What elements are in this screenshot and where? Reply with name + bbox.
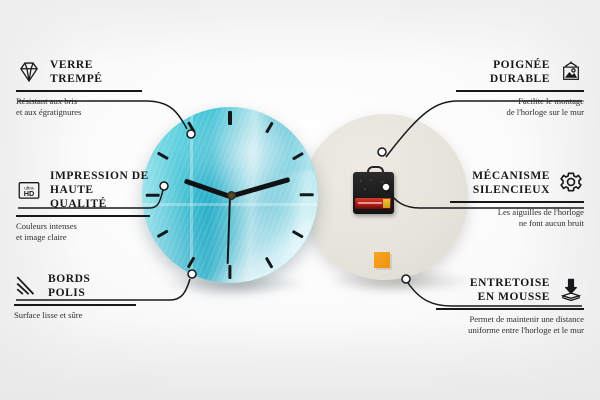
callout-header: VERRE TREMPÉ: [16, 58, 142, 86]
title-line-2: DURABLE: [490, 73, 550, 85]
callout-title: POIGNÉE DURABLE: [490, 58, 550, 86]
title-line-1: VERRE: [50, 59, 93, 71]
title-line-1: ENTRETOISE: [470, 277, 550, 289]
hand-center-cap: [227, 191, 236, 200]
clock-front-face: [142, 107, 318, 283]
hour-marker: [228, 265, 231, 279]
sub-line-1: Couleurs intenses: [16, 221, 77, 231]
callout-rule: [16, 90, 142, 92]
callout-title: BORDS POLIS: [48, 272, 90, 300]
ultra-hd-icon: ultra HD: [16, 177, 42, 203]
title-line-1: BORDS: [48, 273, 90, 285]
callout-title: ENTRETOISE EN MOUSSE: [470, 276, 550, 304]
callout-subtitle: Surface lisse et sûre: [14, 310, 136, 322]
title-line-2: EN MOUSSE: [478, 291, 550, 303]
callout-title: VERRE TREMPÉ: [50, 58, 103, 86]
gear-icon: [558, 170, 584, 196]
infographic-canvas: VERRE TREMPÉ Résistant aux bris et aux é…: [0, 0, 600, 400]
foam-spacer: [374, 252, 390, 268]
sub-line-2: ne font aucun bruit: [519, 218, 584, 228]
callout-entretoise-en-mousse: ENTRETOISE EN MOUSSE Permet de maintenir…: [436, 276, 584, 337]
callout-header: BORDS POLIS: [14, 272, 136, 300]
hour-marker: [228, 111, 231, 125]
callout-subtitle: Facilite le montage de l'horloge sur le …: [456, 96, 584, 119]
polished-edge-icon: [14, 273, 40, 299]
callout-rule: [14, 304, 136, 306]
sub-line-2: et image claire: [16, 232, 67, 242]
title-line-2: SILENCIEUX: [473, 184, 550, 196]
callout-subtitle: Permet de maintenir une distance uniform…: [436, 314, 584, 337]
sub-line-2: de l'horloge sur le mur: [507, 107, 584, 117]
title-line-2: HAUTE QUALITÉ: [50, 184, 107, 210]
diamond-icon: [16, 59, 42, 85]
sub-line-1: Surface lisse et sûre: [14, 310, 83, 320]
sub-line-1: Les aiguilles de l'horloge: [498, 207, 584, 217]
callout-subtitle: Les aiguilles de l'horloge ne font aucun…: [450, 207, 584, 230]
sub-line-2: et aux égratignures: [16, 107, 81, 117]
title-line-1: IMPRESSION DE: [50, 170, 149, 182]
callout-header: POIGNÉE DURABLE: [456, 58, 584, 86]
sub-line-1: Résistant aux bris: [16, 96, 77, 106]
callout-verre-trempe: VERRE TREMPÉ Résistant aux bris et aux é…: [16, 58, 142, 119]
callout-bords-polis: BORDS POLIS Surface lisse et sûre: [14, 272, 136, 321]
callout-subtitle: Résistant aux bris et aux égratignures: [16, 96, 142, 119]
callout-rule: [16, 215, 150, 217]
callout-rule: [436, 308, 584, 310]
title-line-2: POLIS: [48, 287, 85, 299]
callout-poignee-durable: POIGNÉE DURABLE Facilite le montage de l…: [456, 58, 584, 119]
callout-rule: [450, 201, 584, 203]
battery-stripe: [358, 202, 382, 204]
callout-header: ultra HD IMPRESSION DE HAUTE QUALITÉ: [16, 169, 150, 211]
callout-title: IMPRESSION DE HAUTE QUALITÉ: [50, 169, 150, 211]
callout-rule: [456, 90, 584, 92]
arrow-down-stack-icon: [558, 277, 584, 303]
framed-picture-hook-icon: [558, 59, 584, 85]
hour-marker: [300, 193, 314, 196]
title-line-1: POIGNÉE: [493, 59, 550, 71]
title-line-2: TREMPÉ: [50, 73, 103, 85]
sub-line-1: Permet de maintenir une distance: [469, 314, 584, 324]
sub-line-1: Facilite le montage: [518, 96, 584, 106]
callout-title: MÉCANISME SILENCIEUX: [472, 169, 550, 197]
sub-line-2: uniforme entre l'horloge et le mur: [468, 325, 584, 335]
mechanism-detail: [357, 177, 390, 193]
callout-impression-haute-qualite: ultra HD IMPRESSION DE HAUTE QUALITÉ Cou…: [16, 169, 150, 244]
callout-header: MÉCANISME SILENCIEUX: [450, 169, 584, 197]
svg-text:HD: HD: [24, 189, 35, 198]
callout-subtitle: Couleurs intenses et image claire: [16, 221, 150, 244]
callout-header: ENTRETOISE EN MOUSSE: [436, 276, 584, 304]
callout-mecanisme-silencieux: MÉCANISME SILENCIEUX Les aiguilles de l'…: [450, 169, 584, 230]
title-line-1: MÉCANISME: [472, 170, 550, 182]
